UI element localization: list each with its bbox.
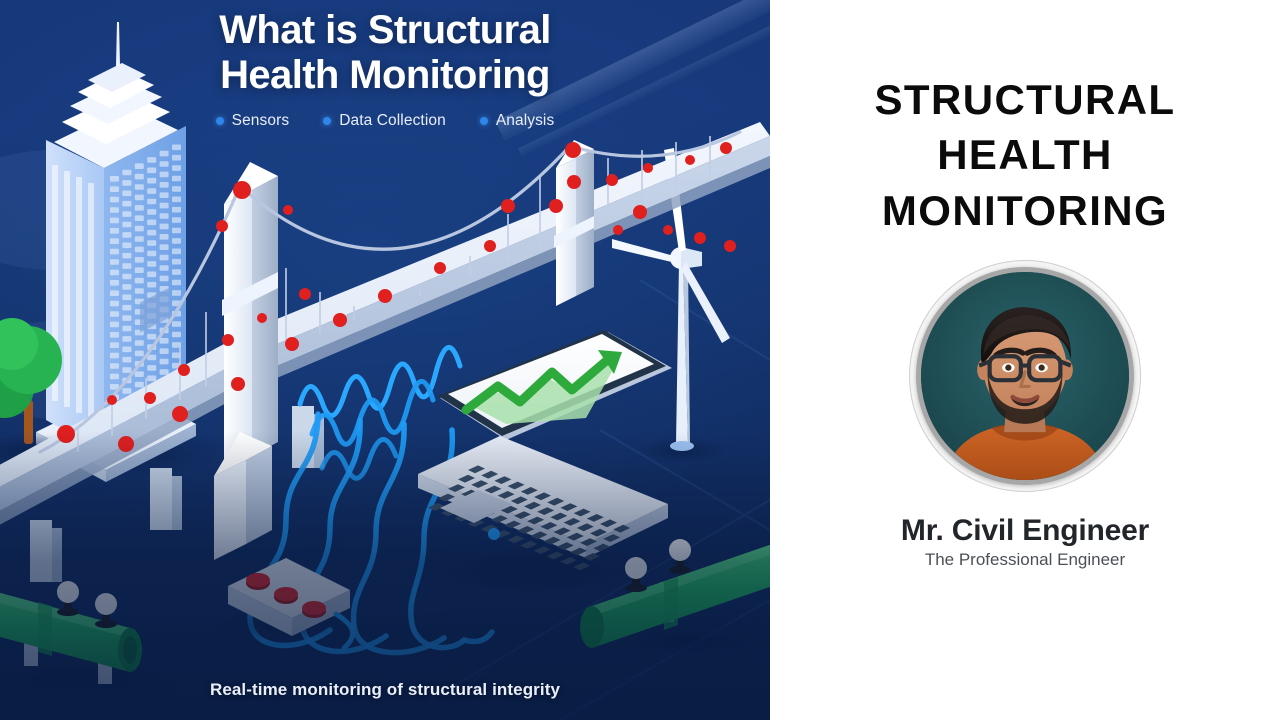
footer-caption: Real-time monitoring of structural integ… (0, 680, 770, 700)
bullet-dot-icon (323, 117, 331, 125)
info-panel: STRUCTURAL HEALTH MONITORING (770, 0, 1280, 720)
bullet-dot-icon (480, 117, 488, 125)
bullet-item-sensors: Sensors (216, 112, 290, 130)
headline-line-1: What is Structural (40, 8, 730, 53)
bullet-dot-icon (216, 117, 224, 125)
avatar (909, 260, 1141, 492)
topic-title-line-2: HEALTH (805, 127, 1245, 182)
bullet-label: Data Collection (339, 112, 446, 130)
topic-title-line-1: STRUCTURAL (805, 72, 1245, 127)
bullet-item-analysis: Analysis (480, 112, 555, 130)
headline-line-2: Health Monitoring (40, 53, 730, 98)
avatar-ring (916, 267, 1134, 485)
slide-root: What is Structural Health Monitoring Sen… (0, 0, 1280, 720)
bullet-item-data-collection: Data Collection (323, 112, 446, 130)
avatar-portrait-icon (921, 272, 1129, 480)
headline-block: What is Structural Health Monitoring Sen… (0, 8, 770, 130)
ground-shadow-overlay (0, 430, 770, 720)
feature-bullet-list: Sensors Data Collection Analysis (0, 112, 770, 130)
presenter-name: Mr. Civil Engineer (901, 514, 1149, 548)
presenter-role: The Professional Engineer (925, 550, 1125, 570)
bullet-label: Analysis (496, 112, 555, 130)
topic-title-line-3: MONITORING (805, 183, 1245, 238)
illustration-panel: What is Structural Health Monitoring Sen… (0, 0, 770, 720)
topic-title: STRUCTURAL HEALTH MONITORING (805, 72, 1245, 238)
bullet-label: Sensors (232, 112, 290, 130)
page-title: What is Structural Health Monitoring (0, 8, 770, 98)
